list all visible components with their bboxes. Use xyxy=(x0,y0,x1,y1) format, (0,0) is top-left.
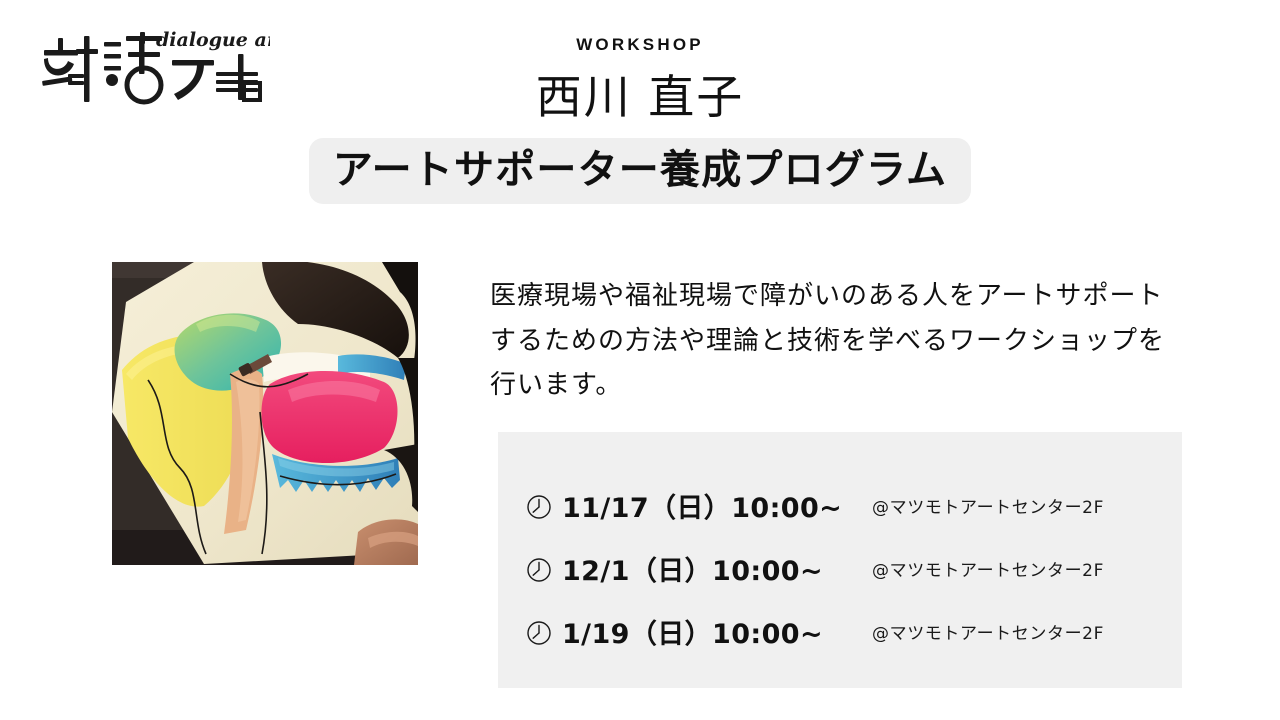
schedule-date: 1/19（日）10:00~ xyxy=(562,612,872,651)
schedule-date: 11/17（日）10:00~ xyxy=(562,486,872,525)
presenter-name: 西川 直子 xyxy=(290,71,990,124)
schedule-box: 11/17（日）10:00~ @マツモトアートセンター2F 12/1（日）10:… xyxy=(498,432,1182,688)
schedule-venue: @マツモトアートセンター2F xyxy=(872,493,1104,518)
schedule-row: 1/19（日）10:00~ @マツモトアートセンター2F xyxy=(498,600,1182,663)
header: WORKSHOP 西川 直子 アートサポーター養成プログラム xyxy=(290,36,990,204)
schedule-date: 12/1（日）10:00~ xyxy=(562,549,872,588)
clock-icon xyxy=(526,620,552,646)
clock-icon xyxy=(526,557,552,583)
program-title-banner: アートサポーター養成プログラム xyxy=(309,138,971,204)
schedule-row: 11/17（日）10:00~ @マツモトアートセンター2F xyxy=(498,474,1182,537)
page-title: アートサポーター養成プログラム xyxy=(333,147,947,193)
dialogue-art-logo[interactable]: dialogue art xyxy=(38,28,270,110)
workshop-photo xyxy=(112,262,418,565)
schedule-venue: @マツモトアートセンター2F xyxy=(872,619,1104,644)
schedule-venue: @マツモトアートセンター2F xyxy=(872,556,1104,581)
svg-text:dialogue art: dialogue art xyxy=(156,29,270,51)
schedule-row: 12/1（日）10:00~ @マツモトアートセンター2F xyxy=(498,537,1182,600)
clock-icon xyxy=(526,494,552,520)
eyebrow-label: WORKSHOP xyxy=(290,36,990,55)
description-text: 医療現場や福祉現場で障がいのある人をアートサポートするための方法や理論と技術を学… xyxy=(490,274,1190,408)
